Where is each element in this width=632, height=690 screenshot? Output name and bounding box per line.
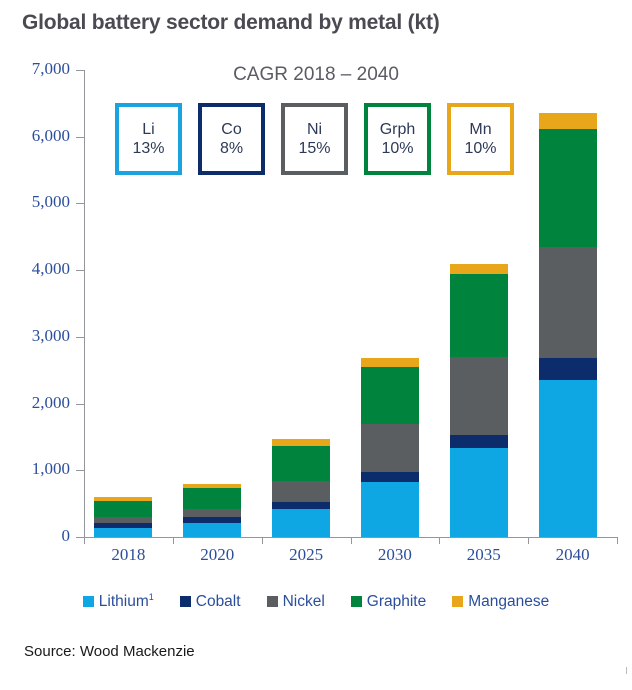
- y-tick-mark: [76, 404, 84, 405]
- x-tick-mark: [173, 537, 174, 544]
- legend-item-nickel[interactable]: Nickel: [267, 593, 325, 611]
- bar-segment-lithium[interactable]: [94, 528, 152, 537]
- y-tick-label: 1,000: [0, 459, 70, 479]
- y-tick-label: 0: [0, 526, 70, 546]
- legend-swatch-icon: [452, 596, 463, 607]
- legend-footnote-marker: 1: [149, 592, 154, 602]
- bar-segment-lithium[interactable]: [450, 448, 508, 537]
- legend-label: Lithium1: [99, 592, 154, 611]
- legend-swatch-icon: [180, 596, 191, 607]
- legend-item-cobalt[interactable]: Cobalt: [180, 593, 241, 611]
- y-tick-label: 7,000: [0, 59, 70, 79]
- bar-segment-cobalt[interactable]: [539, 358, 597, 380]
- y-tick-mark: [76, 137, 84, 138]
- bar-segment-manganese[interactable]: [450, 264, 508, 274]
- legend-item-lithium[interactable]: Lithium1: [83, 592, 154, 611]
- y-tick-mark: [76, 537, 84, 538]
- y-tick-label: 5,000: [0, 192, 70, 212]
- legend-label-text: Nickel: [283, 593, 325, 610]
- legend-swatch-icon: [351, 596, 362, 607]
- bar-segment-nickel[interactable]: [272, 481, 330, 502]
- legend-swatch-icon: [83, 596, 94, 607]
- bar-segment-nickel[interactable]: [183, 509, 241, 516]
- bar-stack[interactable]: [450, 70, 508, 537]
- bar-segment-manganese[interactable]: [361, 358, 419, 366]
- legend-label-text: Manganese: [468, 593, 549, 610]
- bar-segment-manganese[interactable]: [94, 497, 152, 501]
- bar-segment-graphite[interactable]: [450, 274, 508, 357]
- bar-stack[interactable]: [94, 70, 152, 537]
- x-tick-mark: [262, 537, 263, 544]
- bar-segment-graphite[interactable]: [94, 501, 152, 517]
- x-tick-mark: [351, 537, 352, 544]
- bar-segment-graphite[interactable]: [539, 129, 597, 246]
- bar-segment-graphite[interactable]: [272, 446, 330, 481]
- plot-area: [84, 70, 617, 537]
- x-tick-label: 2018: [84, 545, 173, 565]
- bar-segment-cobalt[interactable]: [272, 502, 330, 509]
- legend-item-graphite[interactable]: Graphite: [351, 593, 426, 611]
- bar-segment-nickel[interactable]: [539, 247, 597, 359]
- x-tick-label: 2020: [173, 545, 262, 565]
- legend-label-text: Cobalt: [196, 593, 241, 610]
- legend-item-manganese[interactable]: Manganese: [452, 593, 549, 611]
- x-tick-label: 2025: [262, 545, 351, 565]
- y-tick-mark: [76, 337, 84, 338]
- y-tick-label: 3,000: [0, 326, 70, 346]
- y-tick-mark: [76, 470, 84, 471]
- bar-segment-cobalt[interactable]: [361, 472, 419, 483]
- source-note: Source: Wood Mackenzie: [24, 643, 195, 660]
- y-tick-mark: [76, 70, 84, 71]
- x-tick-mark: [528, 537, 529, 544]
- bar-segment-lithium[interactable]: [183, 523, 241, 537]
- legend-swatch-icon: [267, 596, 278, 607]
- bar-segment-cobalt[interactable]: [450, 435, 508, 448]
- x-tick-mark: [439, 537, 440, 544]
- bar-segment-graphite[interactable]: [361, 367, 419, 424]
- x-tick-label: 2035: [439, 545, 528, 565]
- bar-segment-manganese[interactable]: [272, 439, 330, 446]
- x-tick-label: 2040: [528, 545, 617, 565]
- chart-legend: Lithium1CobaltNickelGraphiteManganese: [0, 592, 632, 611]
- legend-label: Cobalt: [196, 593, 241, 611]
- bar-segment-manganese[interactable]: [183, 484, 241, 488]
- bar-segment-cobalt[interactable]: [183, 517, 241, 523]
- bar-stack[interactable]: [361, 70, 419, 537]
- x-tick-label: 2030: [351, 545, 440, 565]
- page-title: Global battery sector demand by metal (k…: [22, 11, 440, 35]
- bar-stack[interactable]: [272, 70, 330, 537]
- corner-tick-mark: [626, 667, 627, 674]
- bar-segment-graphite[interactable]: [183, 488, 241, 509]
- y-tick-label: 2,000: [0, 393, 70, 413]
- legend-label-text: Lithium: [99, 593, 149, 610]
- y-tick-mark: [76, 270, 84, 271]
- bar-segment-lithium[interactable]: [272, 509, 330, 537]
- bar-segment-manganese[interactable]: [539, 113, 597, 130]
- bar-segment-cobalt[interactable]: [94, 523, 152, 527]
- bar-segment-lithium[interactable]: [361, 482, 419, 537]
- bar-stack[interactable]: [183, 70, 241, 537]
- chart-container: Global battery sector demand by metal (k…: [0, 0, 632, 690]
- legend-label: Graphite: [367, 593, 426, 611]
- legend-label: Nickel: [283, 593, 325, 611]
- bar-segment-lithium[interactable]: [539, 380, 597, 537]
- x-tick-mark: [84, 537, 85, 544]
- y-tick-mark: [76, 203, 84, 204]
- x-tick-mark: [617, 537, 618, 544]
- bar-segment-nickel[interactable]: [450, 357, 508, 435]
- legend-label: Manganese: [468, 593, 549, 611]
- bar-stack[interactable]: [539, 70, 597, 537]
- bar-segment-nickel[interactable]: [361, 424, 419, 472]
- bar-segment-nickel[interactable]: [94, 517, 152, 523]
- y-tick-label: 4,000: [0, 259, 70, 279]
- legend-label-text: Graphite: [367, 593, 426, 610]
- y-tick-label: 6,000: [0, 126, 70, 146]
